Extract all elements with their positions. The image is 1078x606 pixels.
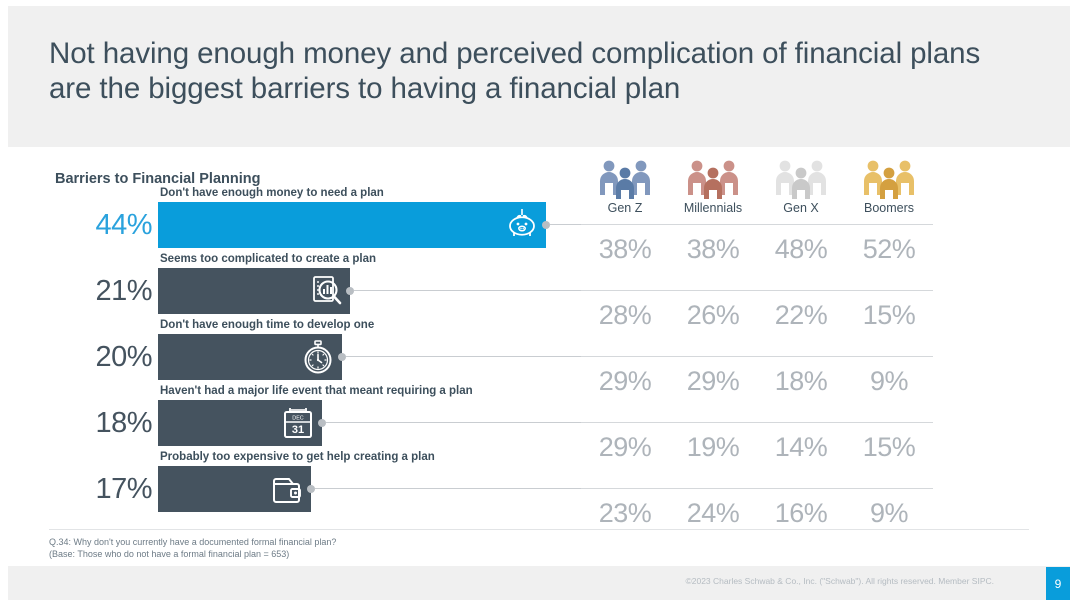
generation-value: 19% <box>669 432 757 463</box>
footnote-question: Q.34: Why don't you currently have a doc… <box>49 537 336 549</box>
generation-value: 52% <box>845 234 933 265</box>
generation-value: 24% <box>669 498 757 529</box>
footnote-divider <box>49 529 1029 530</box>
bar-label: Probably too expensive to get help creat… <box>160 451 435 463</box>
connector-dot <box>346 287 354 295</box>
generation-value: 15% <box>845 432 933 463</box>
generation-value: 38% <box>669 234 757 265</box>
wallet-icon <box>269 471 305 507</box>
generation-value: 48% <box>757 234 845 265</box>
bar-value: 21% <box>66 275 152 308</box>
footnote-base: (Base: Those who do not have a formal fi… <box>49 549 336 561</box>
generation-row-divider <box>581 356 933 357</box>
connector-dot <box>338 353 346 361</box>
stopwatch-icon <box>300 339 336 375</box>
bar-value: 44% <box>66 209 152 242</box>
generation-row-divider <box>581 224 933 225</box>
bar-label: Seems too complicated to create a plan <box>160 253 376 265</box>
generation-value: 9% <box>845 498 933 529</box>
people-group-icon <box>597 159 653 199</box>
bar-value: 20% <box>66 341 152 374</box>
copyright-text: ©2023 Charles Schwab & Co., Inc. ("Schwa… <box>685 576 994 586</box>
generation-value: 23% <box>581 498 669 529</box>
generation-value: 29% <box>669 366 757 397</box>
bar <box>158 202 546 248</box>
generation-column-header-boomers: Boomers <box>845 159 933 215</box>
connector-dot <box>307 485 315 493</box>
people-group-icon <box>861 159 917 199</box>
generation-label: Millennials <box>669 201 757 215</box>
svg-text:DEC: DEC <box>292 416 303 422</box>
generation-value: 26% <box>669 300 757 331</box>
generation-label: Gen Z <box>581 201 669 215</box>
generation-value: 29% <box>581 366 669 397</box>
connector-dot <box>542 221 550 229</box>
bar-label: Don't have enough time to develop one <box>160 319 374 331</box>
bar: DEC 31 <box>158 400 322 446</box>
people-group-icon <box>685 159 741 199</box>
page-number: 9 <box>1046 567 1070 600</box>
connector-dot <box>318 419 326 427</box>
generation-value: 14% <box>757 432 845 463</box>
generation-value: 38% <box>581 234 669 265</box>
magnifier-chart-icon <box>308 273 344 309</box>
generation-value: 18% <box>757 366 845 397</box>
generation-row-divider <box>581 488 933 489</box>
generation-value: 22% <box>757 300 845 331</box>
bar <box>158 466 311 512</box>
piggy-bank-icon <box>504 207 540 243</box>
generation-column-header-gen-z: Gen Z <box>581 159 669 215</box>
generation-value: 28% <box>581 300 669 331</box>
bar-value: 17% <box>66 473 152 506</box>
bar <box>158 268 350 314</box>
calendar-icon: DEC 31 <box>280 405 316 441</box>
svg-text:31: 31 <box>292 424 304 436</box>
generation-column-header-gen-x: Gen X <box>757 159 845 215</box>
bar-value: 18% <box>66 407 152 440</box>
generation-column-header-millennials: Millennials <box>669 159 757 215</box>
generation-row-divider <box>581 290 933 291</box>
generation-value: 9% <box>845 366 933 397</box>
bar-label: Haven't had a major life event that mean… <box>160 385 473 397</box>
bar-label: Don't have enough money to need a plan <box>160 187 384 199</box>
chart-area: Barriers to Financial Planning Gen Z Mil… <box>8 147 1070 528</box>
generation-row-divider <box>581 422 933 423</box>
barriers-chart: Gen Z Millennials Gen X Boomers Don't ha… <box>8 147 1070 528</box>
generation-value: 15% <box>845 300 933 331</box>
generation-value: 29% <box>581 432 669 463</box>
slide: Not having enough money and perceived co… <box>8 6 1070 600</box>
people-group-icon <box>773 159 829 199</box>
bar <box>158 334 342 380</box>
generation-label: Boomers <box>845 201 933 215</box>
generation-label: Gen X <box>757 201 845 215</box>
footnote: Q.34: Why don't you currently have a doc… <box>49 537 336 560</box>
page-title: Not having enough money and perceived co… <box>49 36 989 106</box>
generation-value: 16% <box>757 498 845 529</box>
